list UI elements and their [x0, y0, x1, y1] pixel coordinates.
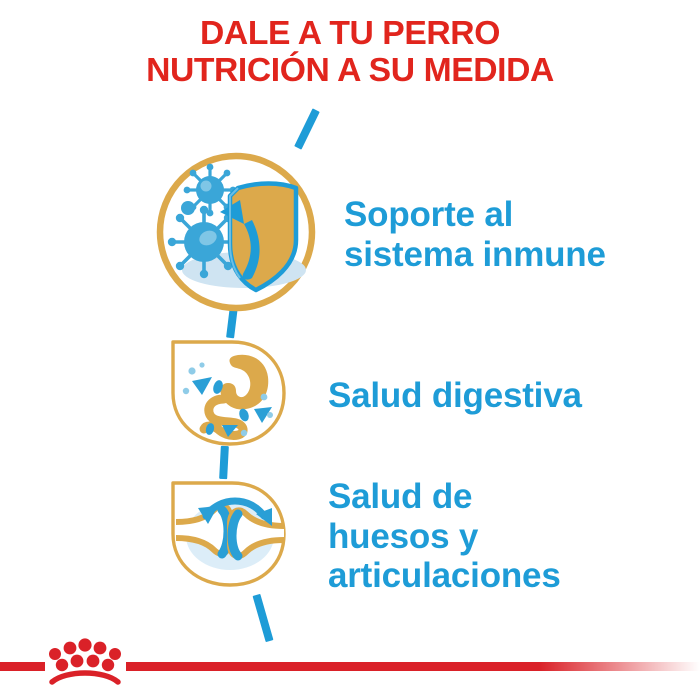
- feature-label-digestive: Salud digestiva: [328, 376, 582, 416]
- poster-canvas: DALE A TU PERRO NUTRICIÓN A SU MEDIDA: [0, 0, 700, 700]
- connector-dash-bottom: [253, 594, 274, 642]
- feature-label-immune: Soporte al sistema inmune: [344, 195, 606, 274]
- feature-label-joints: Salud de huesos y articulaciones: [328, 477, 561, 596]
- feature-row-joints: Salud de huesos y articulaciones: [168, 477, 561, 596]
- page-title: DALE A TU PERRO NUTRICIÓN A SU MEDIDA: [0, 16, 700, 86]
- connector-dash-top: [294, 108, 320, 149]
- royal-canin-crown-logo: [48, 638, 122, 686]
- footer-bar-right: [126, 662, 700, 671]
- feature-row-immune: Soporte al sistema inmune: [152, 148, 606, 321]
- bone-joint-icon: [168, 478, 290, 595]
- title-line-1: DALE A TU PERRO: [0, 16, 700, 50]
- footer-bar-left: [0, 662, 45, 671]
- feature-row-digestive: Salud digestiva: [168, 337, 582, 454]
- digestive-stomach-icon: [168, 337, 290, 454]
- title-line-2: NUTRICIÓN A SU MEDIDA: [0, 53, 700, 87]
- immune-shield-icon: [152, 148, 320, 321]
